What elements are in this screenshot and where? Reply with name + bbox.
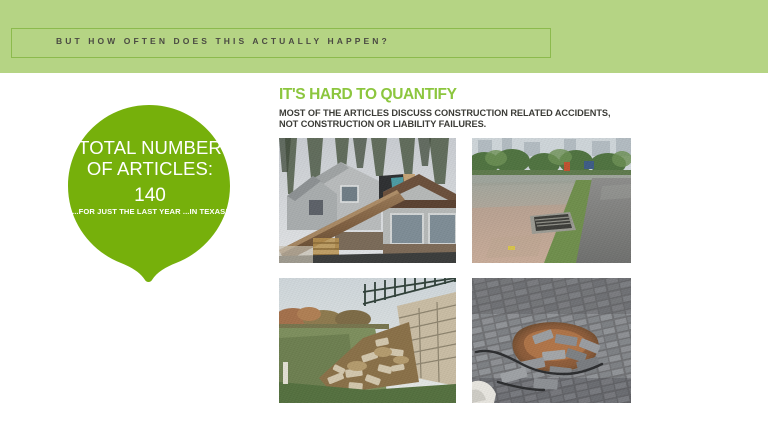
image-broken-brick-pavers: [472, 278, 631, 403]
image-house-tree-damage: [279, 138, 456, 263]
image-collapsed-retaining-wall: [279, 278, 456, 403]
image-gallery: [279, 138, 631, 403]
banner-question-text: BUT HOW OFTEN DOES THIS ACTUALLY HAPPEN?: [56, 36, 390, 46]
flooded-lot-graphic: [472, 138, 631, 263]
brick-pavers-graphic: [472, 278, 631, 403]
retaining-wall-graphic: [279, 278, 456, 403]
badge-article-count: 140: [60, 185, 240, 206]
image-flooded-parking-lot: [472, 138, 631, 263]
slide: BUT HOW OFTEN DOES THIS ACTUALLY HAPPEN?…: [0, 0, 768, 427]
badge-title-line-1: TOTAL NUMBER: [60, 138, 240, 159]
section-heading: IT'S HARD TO QUANTIFY: [279, 86, 749, 103]
section-subtext: MOST OF THE ARTICLES DISCUSS CONSTRUCTIO…: [279, 108, 629, 129]
top-banner: BUT HOW OFTEN DOES THIS ACTUALLY HAPPEN?: [0, 0, 768, 73]
content-text-block: IT'S HARD TO QUANTIFY MOST OF THE ARTICL…: [279, 86, 749, 129]
badge-title-line-2: OF ARTICLES:: [60, 159, 240, 180]
badge-text-block: TOTAL NUMBER OF ARTICLES: 140 ...FOR JUS…: [60, 138, 240, 216]
house-tree-damage-graphic: [279, 138, 456, 263]
total-articles-badge: TOTAL NUMBER OF ARTICLES: 140 ...FOR JUS…: [60, 100, 240, 285]
badge-footnote: ...FOR JUST THE LAST YEAR ...IN TEXAS!: [60, 208, 240, 217]
